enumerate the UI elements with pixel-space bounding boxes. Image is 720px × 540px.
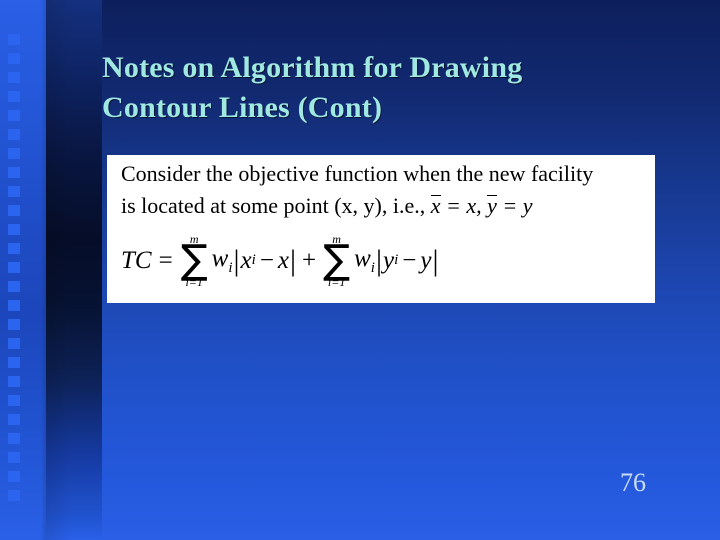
content-text-line-1: Consider the objective function when the… xyxy=(121,161,593,187)
formula-lhs: TC xyxy=(121,247,157,275)
summation-2: m ∑ i=1 xyxy=(323,233,350,288)
x-bar-equation: = x, xyxy=(446,193,482,218)
decorative-square xyxy=(8,110,20,121)
term-1-absolute-value: |xi−x| xyxy=(233,246,298,276)
sigma-icon: ∑ xyxy=(323,243,350,277)
term-1-weight-symbol: w xyxy=(212,245,229,272)
term-1-bar-open: | xyxy=(233,246,241,276)
term-1-variable: x xyxy=(241,247,252,275)
page-number: 76 xyxy=(620,468,646,498)
decorative-square xyxy=(8,53,20,64)
decorative-square xyxy=(8,471,20,482)
content-box: Consider the objective function when the… xyxy=(107,155,655,303)
decorative-square xyxy=(8,205,20,216)
term-1-weight: wi xyxy=(210,245,233,277)
term-1-minus-sign: − xyxy=(256,247,278,275)
term-2-minus-sign: − xyxy=(398,247,420,275)
decorative-square xyxy=(8,72,20,83)
term-2-bar-open: | xyxy=(375,246,383,276)
decorative-square xyxy=(8,281,20,292)
decorative-square xyxy=(8,148,20,159)
page-title: Notes on Algorithm for Drawing Contour L… xyxy=(102,48,662,128)
term-1-bar-close: | xyxy=(289,246,297,276)
y-bar-equation: = y xyxy=(502,193,532,218)
decorative-square xyxy=(8,376,20,387)
decorative-square xyxy=(8,167,20,178)
y-bar-symbol: y xyxy=(487,195,497,217)
decorative-square xyxy=(8,319,20,330)
decorative-square xyxy=(8,452,20,463)
decorative-square xyxy=(8,129,20,140)
decorative-square xyxy=(8,34,20,45)
decorative-square-column xyxy=(8,34,20,514)
term-2-variable: y xyxy=(383,247,394,275)
term-2-weight-symbol: w xyxy=(354,245,371,272)
sigma-icon: ∑ xyxy=(181,243,208,277)
decorative-square xyxy=(8,262,20,273)
page-title-line-1: Notes on Algorithm for Drawing xyxy=(102,48,662,88)
decorative-square xyxy=(8,243,20,254)
term-2-weight: wi xyxy=(352,245,375,277)
formula-equals-sign: = xyxy=(157,247,179,275)
decorative-square xyxy=(8,338,20,349)
left-decorative-band-inner xyxy=(46,0,102,540)
decorative-square xyxy=(8,414,20,425)
presentation-slide: Notes on Algorithm for Drawing Contour L… xyxy=(0,0,720,540)
content-text-line-2-prefix: is located at some point (x, y), i.e., xyxy=(121,193,425,218)
summation-1-lower-limit: i=1 xyxy=(185,276,202,288)
decorative-square xyxy=(8,91,20,102)
decorative-square xyxy=(8,186,20,197)
decorative-square xyxy=(8,433,20,444)
decorative-square xyxy=(8,357,20,368)
term-1-variable-2: x xyxy=(278,247,289,275)
decorative-square xyxy=(8,395,20,406)
summation-2-lower-limit: i=1 xyxy=(328,276,345,288)
x-bar-symbol: x xyxy=(431,195,441,217)
term-2-absolute-value: |yi−y| xyxy=(375,246,440,276)
left-decorative-band-outer xyxy=(0,0,46,540)
page-title-line-2: Contour Lines (Cont) xyxy=(102,88,662,128)
term-2-bar-close: | xyxy=(431,246,439,276)
decorative-square xyxy=(8,224,20,235)
decorative-square xyxy=(8,300,20,311)
summation-1: m ∑ i=1 xyxy=(181,233,208,288)
term-2-variable-2: y xyxy=(420,247,431,275)
formula-plus-sign: + xyxy=(297,247,321,275)
content-text-line-2: is located at some point (x, y), i.e., x… xyxy=(121,193,533,219)
total-cost-formula: TC = m ∑ i=1 wi |xi−x| + m ∑ i=1 wi |yi−… xyxy=(121,233,440,288)
decorative-square xyxy=(8,490,20,501)
